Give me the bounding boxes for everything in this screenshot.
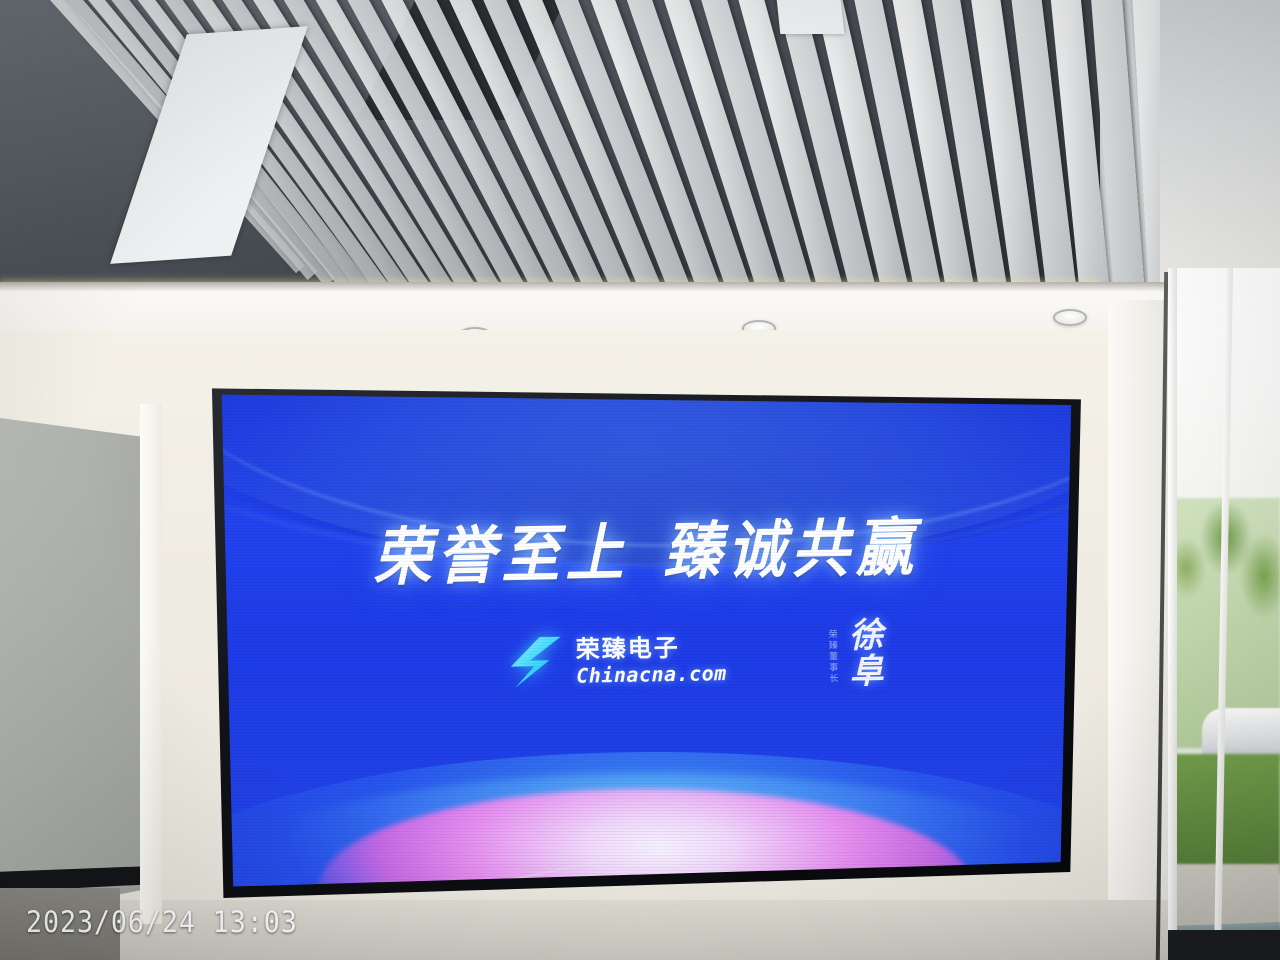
screen-panel: 荣誉至上臻诚共赢 荣臻电子 xyxy=(204,378,1088,898)
left-doorway-recess xyxy=(0,418,152,918)
window-frame-left xyxy=(1168,268,1177,960)
ceiling-light-panel-small xyxy=(776,0,845,34)
photo-scene: 荣誉至上臻诚共赢 荣臻电子 xyxy=(0,0,1280,960)
led-display-screen[interactable]: 荣誉至上臻诚共赢 荣臻电子 xyxy=(204,378,1088,898)
timestamp-overlay: 2023/06/24 13:03 xyxy=(26,905,298,939)
window xyxy=(1168,268,1280,960)
downlight-icon xyxy=(1053,309,1087,326)
led-pixel-scanlines xyxy=(204,378,1088,898)
door-jamb xyxy=(140,404,162,924)
window-sill xyxy=(1168,930,1280,960)
soffit-shadow xyxy=(0,282,1280,292)
